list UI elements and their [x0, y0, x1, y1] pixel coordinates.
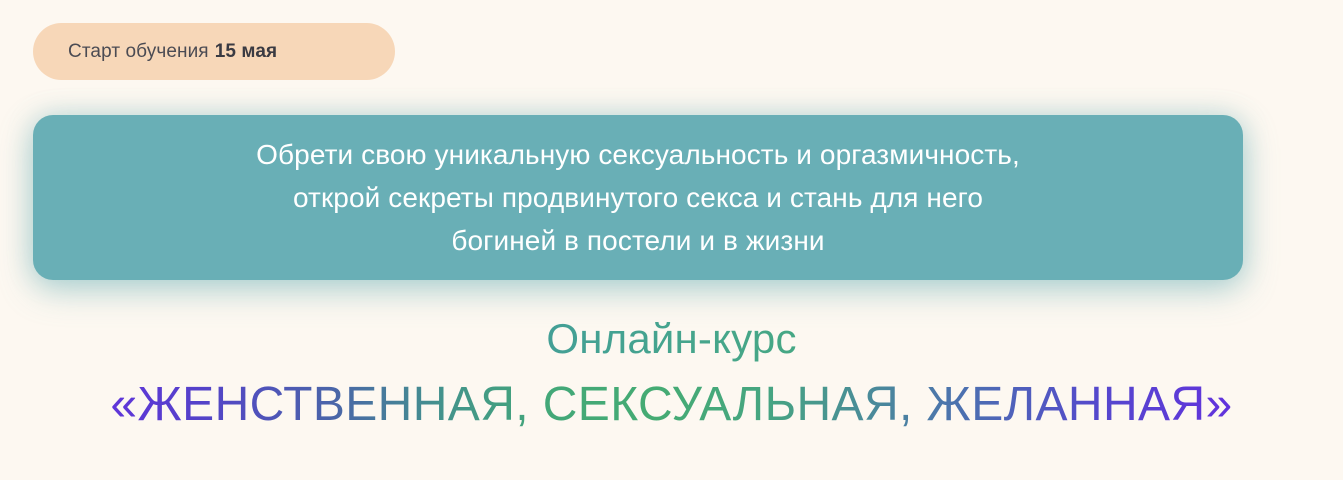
promise-banner-line-1: Обрети свою уникальную сексуальность и о…	[256, 133, 1020, 176]
promise-banner: Обрети свою уникальную сексуальность и о…	[33, 115, 1243, 280]
promo-hero: Старт обучения 15 мая Обрети свою уникал…	[0, 0, 1343, 480]
promise-banner-line-3: богиней в постели и в жизни	[451, 219, 824, 262]
start-date-badge: Старт обучения 15 мая	[33, 23, 395, 80]
promise-banner-line-2: открой секреты продвинутого секса и стан…	[293, 176, 983, 219]
start-date-badge-date: 15 мая	[215, 42, 277, 61]
course-title: «ЖЕНСТВЕННАЯ, СЕКСУАЛЬНАЯ, ЖЕЛАННАЯ»	[0, 374, 1343, 436]
course-format-kicker: Онлайн-курс	[0, 313, 1343, 365]
start-date-badge-label: Старт обучения	[68, 42, 209, 61]
